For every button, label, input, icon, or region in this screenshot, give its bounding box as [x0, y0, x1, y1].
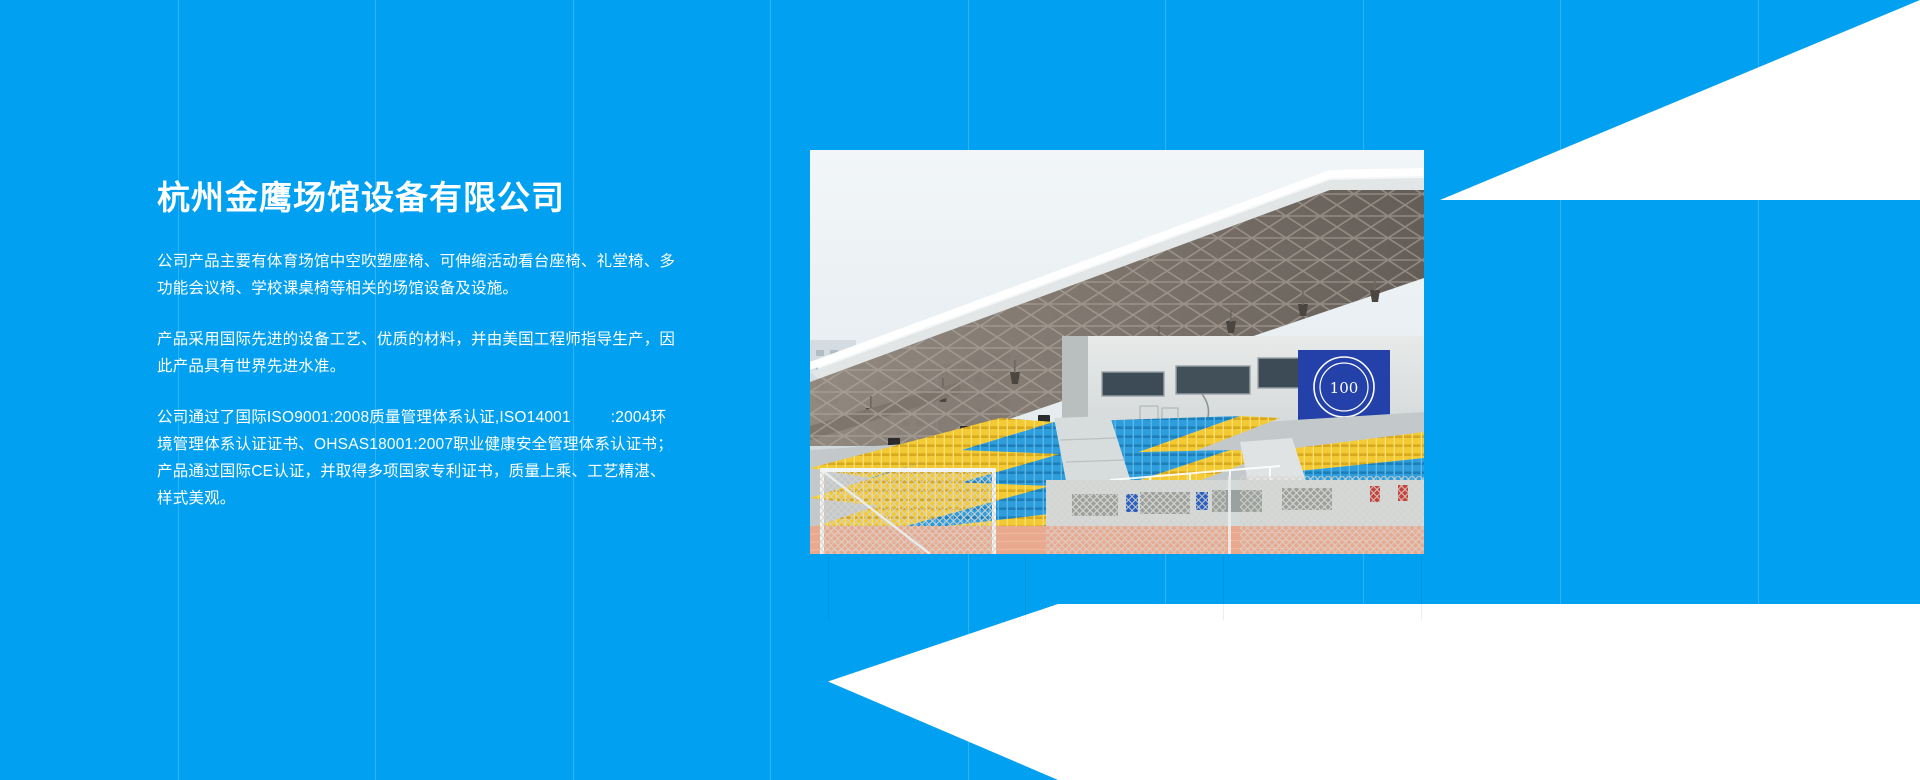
company-intro-hero: 杭州金鹰场馆设备有限公司 公司产品主要有体育场馆中空吹塑座椅、可伸缩活动看台座椅…: [0, 0, 1920, 780]
intro-paragraph-certifications: 公司通过了国际ISO9001:2008质量管理体系认证,ISO14001:200…: [157, 404, 677, 512]
intro-paragraph-quality: 产品采用国际先进的设备工艺、优质的材料，并由美国工程师指导生产，因此产品具有世界…: [157, 326, 677, 380]
svg-text:100: 100: [1330, 379, 1359, 397]
bottom-rule: [828, 556, 829, 620]
certification-text-part1: 公司通过了国际ISO9001:2008质量管理体系认证,ISO14001: [157, 409, 571, 426]
stadium-grandstand-photo: 100: [810, 150, 1424, 554]
bottom-rule: [1223, 556, 1224, 620]
company-copy-block: 杭州金鹰场馆设备有限公司 公司产品主要有体育场馆中空吹塑座椅、可伸缩活动看台座椅…: [157, 178, 677, 512]
stadium-photo-illustration: 100: [810, 150, 1424, 554]
bottom-rule: [1421, 556, 1422, 620]
soccer-goal: [820, 468, 996, 554]
intro-paragraph-products: 公司产品主要有体育场馆中空吹塑座椅、可伸缩活动看台座椅、礼堂椅、多功能会议椅、学…: [157, 248, 677, 302]
bottom-rule: [1025, 556, 1026, 620]
page-title: 杭州金鹰场馆设备有限公司: [157, 178, 677, 218]
